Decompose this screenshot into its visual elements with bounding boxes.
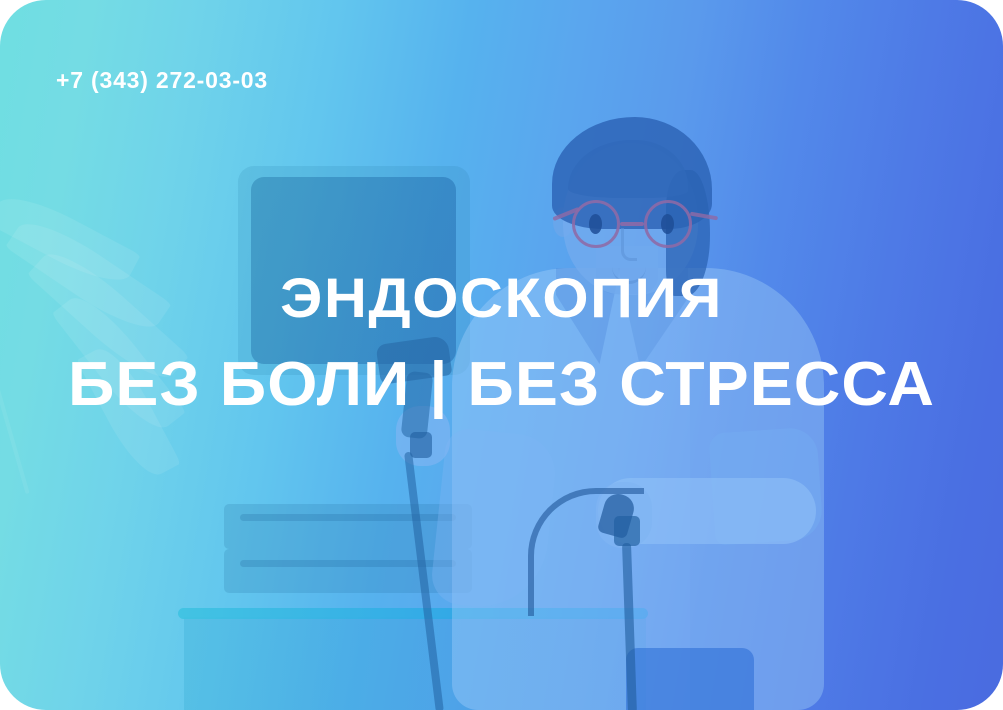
doctor-eye-right — [661, 214, 674, 234]
monitor-screen — [251, 177, 456, 364]
endoscope-left-grip — [410, 432, 432, 458]
promo-banner: +7 (343) 272-03-03 ЭНДОСКОПИЯ БЕЗ БОЛИ |… — [0, 0, 1003, 710]
doctor-nose — [621, 228, 637, 261]
doctor-pants — [626, 648, 754, 710]
endoscope-right-head — [614, 516, 640, 546]
phone-number[interactable]: +7 (343) 272-03-03 — [56, 67, 268, 94]
equipment-box-upper-slot — [240, 514, 456, 521]
doctor-eye-left — [589, 214, 602, 234]
glasses-bridge — [620, 222, 644, 226]
